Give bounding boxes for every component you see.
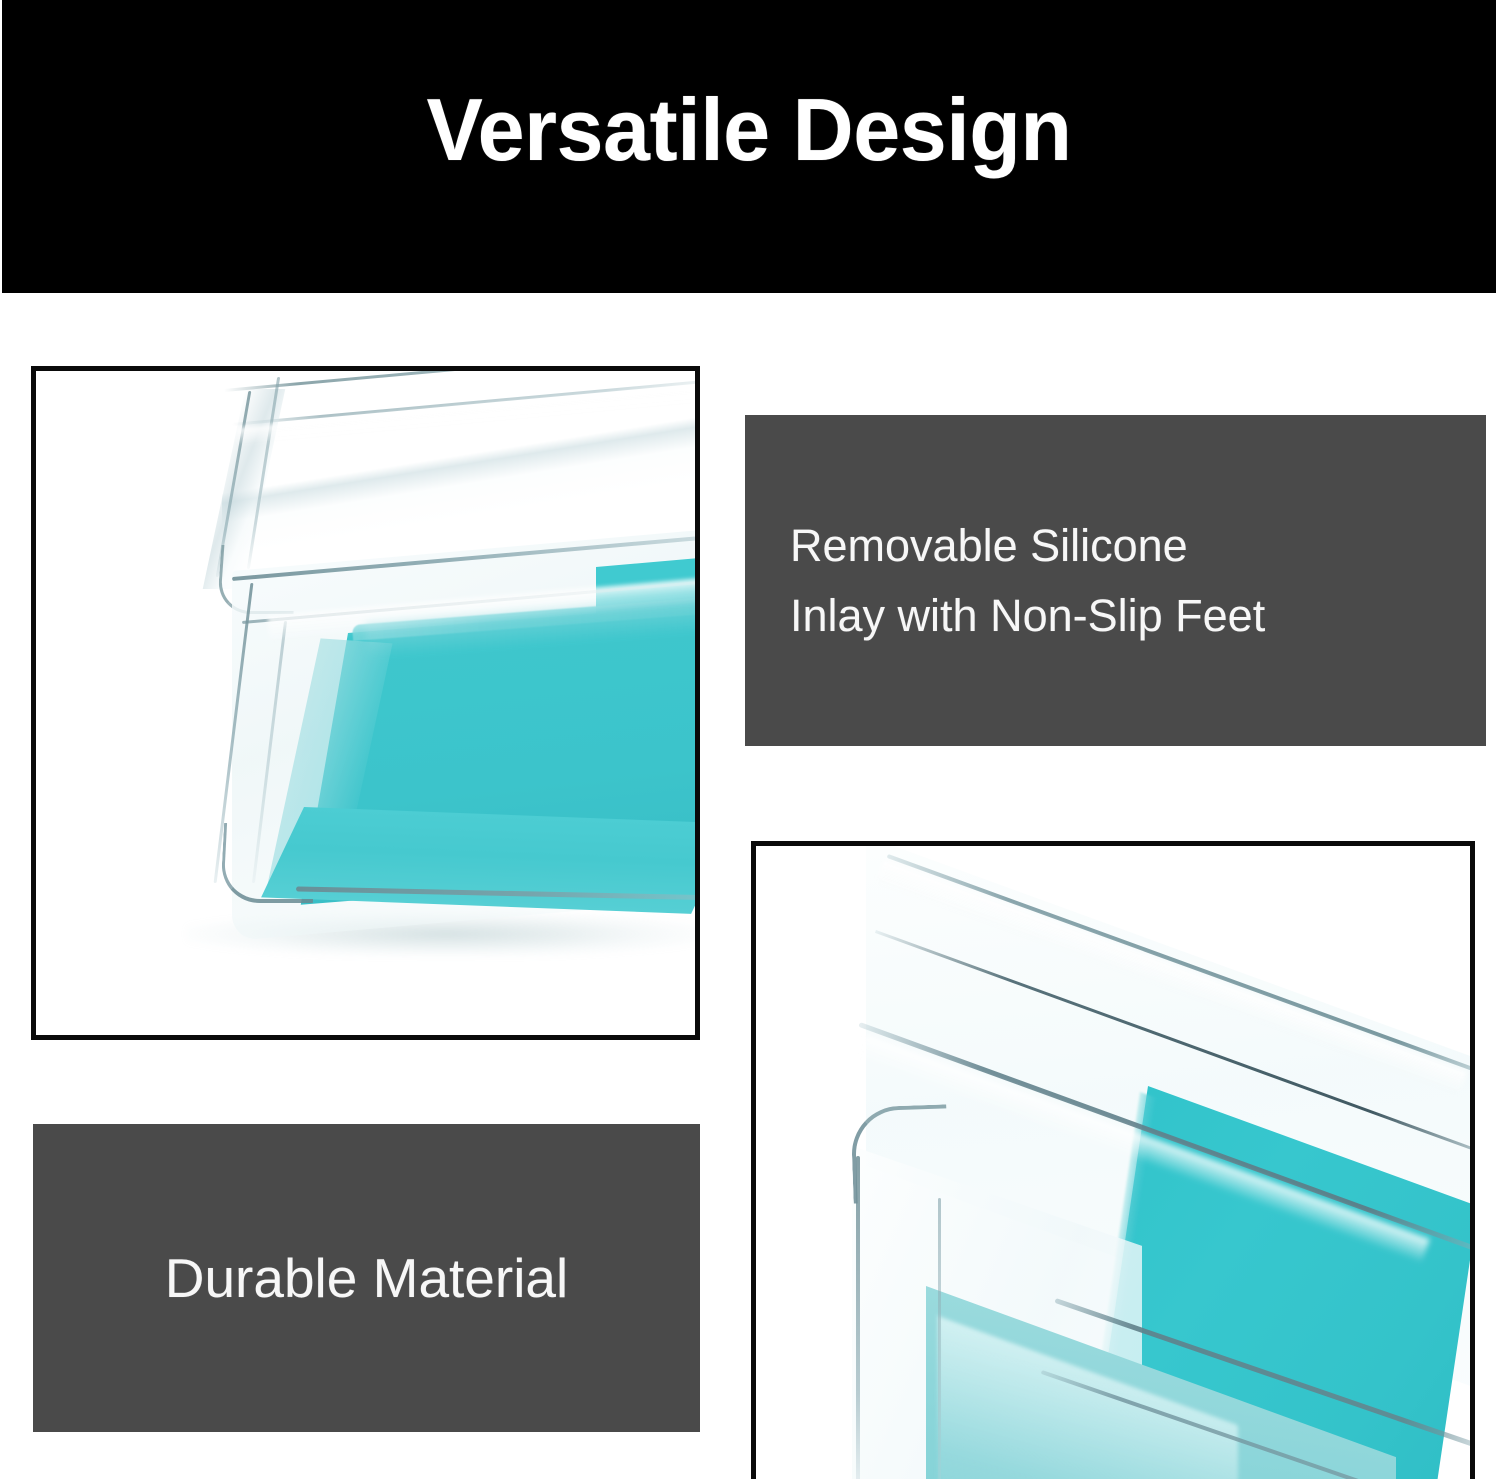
caption-removable-silicone-inlay: Removable Silicone Inlay with Non-Slip F… bbox=[745, 415, 1486, 746]
caption-silicone-line-2: Inlay with Non-Slip Feet bbox=[790, 581, 1265, 651]
title-banner: Versatile Design bbox=[2, 0, 1496, 293]
product-photo-top-left bbox=[31, 366, 700, 1040]
product-photo-bottom-right bbox=[751, 841, 1475, 1479]
bin-rounded-corner bbox=[850, 1104, 949, 1203]
caption-silicone-line-1: Removable Silicone bbox=[790, 511, 1188, 581]
caption-durable-material: Durable Material bbox=[33, 1124, 700, 1432]
product-photo-bottom-right-image bbox=[756, 846, 1470, 1479]
caption-durable-line-1: Durable Material bbox=[165, 1245, 569, 1311]
page-title: Versatile Design bbox=[426, 86, 1071, 174]
bin-left-inner-edge bbox=[938, 1198, 941, 1479]
bin-left-outer-edge bbox=[856, 1156, 860, 1479]
product-photo-top-left-image bbox=[36, 371, 695, 1035]
